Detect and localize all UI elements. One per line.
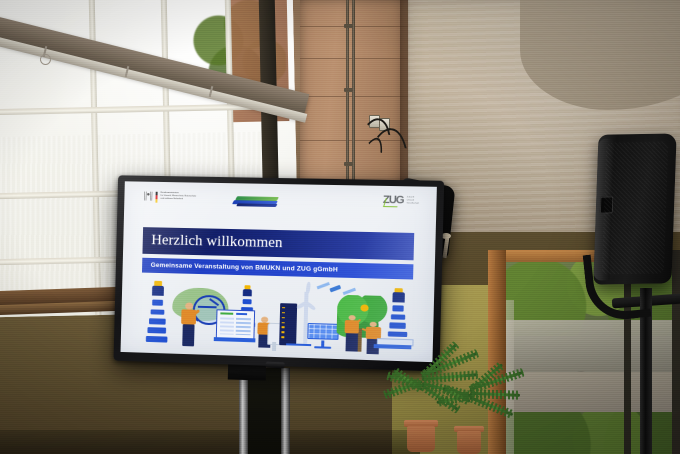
- stand-column-shadow: [248, 368, 281, 454]
- stand-pole-right: [281, 368, 290, 454]
- flower-pot: [407, 426, 435, 452]
- pa-speaker: [593, 133, 676, 284]
- slide-title: Herzlich willkommen: [142, 232, 282, 252]
- blind-hook-ring: [40, 54, 51, 65]
- dashboard-screen: [216, 309, 255, 339]
- person-measuring-tree: [344, 315, 361, 352]
- floor-shadow: [0, 430, 420, 454]
- zug-wordmark: ZUG: [383, 195, 404, 206]
- tv-brand-badge: [265, 362, 284, 369]
- right-window-edge: [672, 250, 680, 454]
- turbine-blade: [305, 281, 310, 294]
- potted-fern-right: [440, 378, 530, 454]
- flower-pot: [457, 431, 481, 454]
- bmukn-line-3: und nukleare Sicherheit: [160, 198, 196, 202]
- server-rack: [279, 304, 297, 346]
- lighthouse-left: [147, 280, 168, 345]
- german-flag-icon: [155, 192, 157, 203]
- slide-title-bar: Herzlich willkommen: [142, 227, 414, 260]
- zug-line-3: Gesellschaft: [406, 203, 418, 206]
- tv-bezel: Bundesministerium für Umwelt, Klimaschut…: [114, 175, 445, 371]
- stand-pole-left: [239, 368, 248, 454]
- bmukn-logo-text: Bundesministerium für Umwelt, Klimaschut…: [160, 192, 196, 201]
- chair-leg: [272, 341, 276, 350]
- satellite-body: [329, 285, 341, 293]
- partner-logo: [233, 196, 281, 208]
- presentation-display[interactable]: Bundesministerium für Umwelt, Klimaschut…: [114, 175, 445, 371]
- tv-screen[interactable]: Bundesministerium für Umwelt, Klimaschut…: [121, 181, 437, 362]
- federal-eagle-icon: [144, 192, 153, 201]
- slide: Bundesministerium für Umwelt, Klimaschut…: [121, 181, 437, 362]
- zug-logo: ZUG Zukunft Umwelt Gesellschaft: [383, 195, 419, 207]
- person-with-magnifier: [180, 302, 198, 346]
- speaker-grille: [602, 141, 669, 274]
- photo-scene: Bundesministerium für Umwelt, Klimaschut…: [0, 0, 680, 454]
- slide-subtitle: Gemeinsame Veranstaltung von BMUKN und Z…: [142, 261, 338, 273]
- bmukn-logo: Bundesministerium für Umwelt, Klimaschut…: [144, 192, 196, 204]
- solar-panel: [307, 323, 339, 341]
- solar-panel-foot: [314, 347, 331, 349]
- rack-cable: [286, 343, 311, 345]
- satellite-wing: [317, 282, 330, 289]
- slide-illustration: [136, 276, 419, 360]
- zug-logo-text: Zukunft Umwelt Gesellschaft: [406, 197, 419, 206]
- dashboard-base: [213, 337, 255, 343]
